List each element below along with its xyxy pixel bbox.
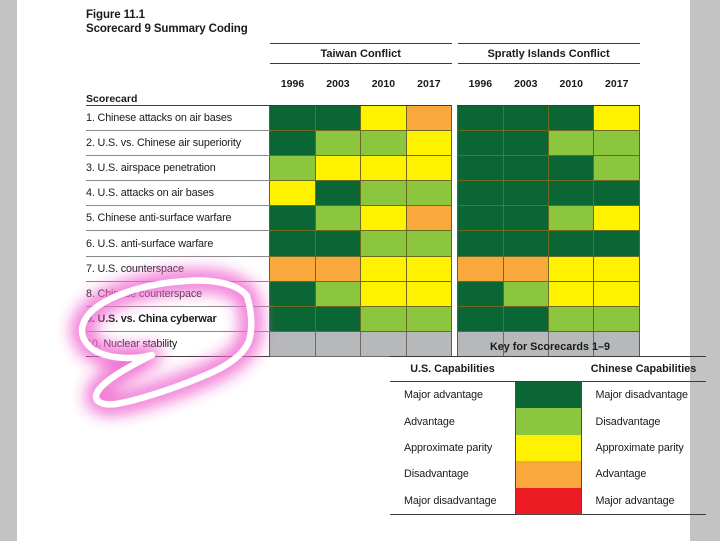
heatmap-cell-taiwan	[406, 307, 451, 332]
legend-header-us: U.S. Capabilities	[390, 357, 515, 382]
heatmap-cell-spratly	[594, 206, 640, 231]
heatmap-cell-taiwan	[361, 181, 406, 206]
legend-header-swatch	[515, 357, 581, 382]
heatmap-cell-spratly	[594, 130, 640, 155]
legend-cn-label: Major disadvantage	[581, 382, 706, 409]
figure-number: Figure 11.1	[86, 8, 640, 22]
year-header-row: Scorecard 1996 2003 2010 2017 1996 2003 …	[86, 64, 640, 106]
legend-us-label: Major advantage	[390, 382, 515, 409]
year-header-taiwan-2017: 2017	[406, 64, 451, 106]
year-header-taiwan-1996: 1996	[270, 64, 315, 106]
heatmap-cell-taiwan	[270, 130, 315, 155]
heatmap-cell-taiwan	[270, 332, 315, 357]
heatmap-cell-spratly	[458, 105, 503, 130]
scorecard-row-label: 3. U.S. airspace penetration	[86, 155, 270, 180]
heatmap-cell-spratly	[549, 256, 594, 281]
heatmap-cell-taiwan	[361, 281, 406, 306]
heatmap-cell-spratly	[458, 256, 503, 281]
heatmap-cell-taiwan	[315, 130, 360, 155]
legend-color-swatch	[515, 382, 581, 409]
legend-row: Major advantageMajor disadvantage	[390, 382, 706, 409]
heatmap-cell-spratly	[549, 206, 594, 231]
legend-container: Key for Scorecards 1–9 U.S. Capabilities…	[390, 341, 710, 515]
table-row: 5. Chinese anti-surface warfare	[86, 206, 640, 231]
legend-us-label: Approximate parity	[390, 435, 515, 461]
heatmap-cell-spratly	[594, 307, 640, 332]
heatmap-cell-spratly	[503, 231, 548, 256]
heatmap-cell-taiwan	[361, 307, 406, 332]
scorecard-row-label: 6. U.S. anti-surface warfare	[86, 231, 270, 256]
table-row: 9. U.S. vs. China cyberwar	[86, 307, 640, 332]
heatmap-cell-spratly	[549, 105, 594, 130]
group-header-spacer	[86, 44, 270, 64]
year-header-taiwan-2010: 2010	[361, 64, 406, 106]
heatmap-cell-spratly	[594, 181, 640, 206]
group-header-spratly: Spratly Islands Conflict	[458, 44, 640, 64]
legend-cn-label: Advantage	[581, 461, 706, 487]
table-row: 8. Chinese counterspace	[86, 281, 640, 306]
legend-table: U.S. Capabilities Chinese Capabilities M…	[390, 356, 706, 515]
heatmap-cell-spratly	[549, 181, 594, 206]
heatmap-cell-spratly	[503, 206, 548, 231]
heatmap-cell-taiwan	[270, 155, 315, 180]
heatmap-cell-taiwan	[315, 307, 360, 332]
figure-title: Scorecard 9 Summary Coding	[86, 22, 640, 36]
legend-table-body: Major advantageMajor disadvantageAdvanta…	[390, 382, 706, 515]
heatmap-cell-taiwan	[406, 231, 451, 256]
table-row: 3. U.S. airspace penetration	[86, 155, 640, 180]
heatmap-cell-taiwan	[270, 181, 315, 206]
heatmap-cell-taiwan	[315, 281, 360, 306]
legend-us-label: Disadvantage	[390, 461, 515, 487]
heatmap-cell-taiwan	[406, 206, 451, 231]
table-row: 1. Chinese attacks on air bases	[86, 105, 640, 130]
heatmap-cell-taiwan	[406, 155, 451, 180]
year-header-spratly-2010: 2010	[549, 64, 594, 106]
heatmap-cell-taiwan	[406, 105, 451, 130]
legend-row: Approximate parityApproximate parity	[390, 435, 706, 461]
heatmap-cell-spratly	[503, 181, 548, 206]
heatmap-cell-taiwan	[270, 206, 315, 231]
figure-container: Figure 11.1 Scorecard 9 Summary Coding T…	[86, 8, 640, 357]
legend-row: AdvantageDisadvantage	[390, 408, 706, 434]
heatmap-cell-spratly	[594, 231, 640, 256]
year-header-spratly-2017: 2017	[594, 64, 640, 106]
legend-cn-label: Disadvantage	[581, 408, 706, 434]
legend-row: DisadvantageAdvantage	[390, 461, 706, 487]
legend-us-label: Major disadvantage	[390, 488, 515, 515]
year-header-spratly-2003: 2003	[503, 64, 548, 106]
scorecard-row-label: 1. Chinese attacks on air bases	[86, 105, 270, 130]
heatmap-cell-taiwan	[315, 105, 360, 130]
heatmap-cell-spratly	[549, 281, 594, 306]
table-row: 6. U.S. anti-surface warfare	[86, 231, 640, 256]
heatmap-cell-taiwan	[270, 256, 315, 281]
group-header-taiwan: Taiwan Conflict	[270, 44, 452, 64]
document-page: Figure 11.1 Scorecard 9 Summary Coding T…	[17, 0, 690, 541]
heatmap-cell-spratly	[458, 206, 503, 231]
scorecard-row-label: 5. Chinese anti-surface warfare	[86, 206, 270, 231]
scorecard-row-label: 7. U.S. counterspace	[86, 256, 270, 281]
heatmap-cell-taiwan	[361, 105, 406, 130]
heatmap-cell-spratly	[549, 130, 594, 155]
legend-header-row: U.S. Capabilities Chinese Capabilities	[390, 357, 706, 382]
legend-header-cn: Chinese Capabilities	[581, 357, 706, 382]
year-header-spratly-1996: 1996	[458, 64, 503, 106]
heatmap-cell-taiwan	[315, 332, 360, 357]
scorecard-row-label: 10. Nuclear stability	[86, 332, 270, 357]
scorecard-row-label: 9. U.S. vs. China cyberwar	[86, 307, 270, 332]
heatmap-cell-taiwan	[406, 256, 451, 281]
heatmap-cell-spratly	[458, 130, 503, 155]
heatmap-cell-taiwan	[361, 256, 406, 281]
table-row: 7. U.S. counterspace	[86, 256, 640, 281]
heatmap-cell-spratly	[458, 181, 503, 206]
heatmap-cell-taiwan	[406, 130, 451, 155]
heatmap-cell-spratly	[503, 105, 548, 130]
legend-color-swatch	[515, 408, 581, 434]
heatmap-cell-taiwan	[361, 130, 406, 155]
year-header-taiwan-2003: 2003	[315, 64, 360, 106]
legend-color-swatch	[515, 488, 581, 515]
legend-us-label: Advantage	[390, 408, 515, 434]
heatmap-cell-taiwan	[315, 206, 360, 231]
heatmap-cell-taiwan	[270, 105, 315, 130]
heatmap-cell-spratly	[549, 307, 594, 332]
heatmap-cell-taiwan	[406, 181, 451, 206]
heatmap-cell-taiwan	[315, 231, 360, 256]
heatmap-cell-spratly	[458, 231, 503, 256]
heatmap-cell-taiwan	[270, 281, 315, 306]
legend-title: Key for Scorecards 1–9	[390, 341, 710, 356]
heatmap-cell-spratly	[458, 155, 503, 180]
heatmap-cell-taiwan	[270, 231, 315, 256]
legend-row: Major disadvantageMajor advantage	[390, 488, 706, 515]
table-row: 2. U.S. vs. Chinese air superiority	[86, 130, 640, 155]
heatmap-cell-spratly	[549, 155, 594, 180]
legend-cn-label: Major advantage	[581, 488, 706, 515]
group-header-row: Taiwan Conflict Spratly Islands Conflict	[86, 44, 640, 64]
heatmap-cell-spratly	[594, 105, 640, 130]
heatmap-cell-spratly	[594, 155, 640, 180]
scorecard-column-header: Scorecard	[86, 64, 270, 106]
heatmap-cell-taiwan	[315, 155, 360, 180]
heatmap-cell-spratly	[503, 130, 548, 155]
heatmap-cell-taiwan	[315, 181, 360, 206]
heatmap-cell-spratly	[458, 307, 503, 332]
heatmap-cell-spratly	[503, 281, 548, 306]
scorecard-row-label: 8. Chinese counterspace	[86, 281, 270, 306]
heatmap-cell-spratly	[503, 256, 548, 281]
heatmap-cell-taiwan	[361, 155, 406, 180]
legend-color-swatch	[515, 435, 581, 461]
heatmap-cell-taiwan	[361, 231, 406, 256]
heatmap-cell-spratly	[549, 231, 594, 256]
scorecard-table: Taiwan Conflict Spratly Islands Conflict…	[86, 43, 640, 357]
heatmap-cell-taiwan	[406, 281, 451, 306]
legend-cn-label: Approximate parity	[581, 435, 706, 461]
heatmap-cell-taiwan	[361, 206, 406, 231]
legend-color-swatch	[515, 461, 581, 487]
heatmap-cell-spratly	[503, 155, 548, 180]
heatmap-cell-taiwan	[315, 256, 360, 281]
heatmap-cell-spratly	[503, 307, 548, 332]
scorecard-row-label: 4. U.S. attacks on air bases	[86, 181, 270, 206]
scorecard-table-head: Taiwan Conflict Spratly Islands Conflict…	[86, 44, 640, 106]
table-row: 4. U.S. attacks on air bases	[86, 181, 640, 206]
scorecard-row-label: 2. U.S. vs. Chinese air superiority	[86, 130, 270, 155]
figure-caption: Figure 11.1 Scorecard 9 Summary Coding	[86, 8, 640, 36]
heatmap-cell-spratly	[458, 281, 503, 306]
heatmap-cell-spratly	[594, 256, 640, 281]
heatmap-cell-taiwan	[270, 307, 315, 332]
scorecard-table-body: 1. Chinese attacks on air bases2. U.S. v…	[86, 105, 640, 357]
heatmap-cell-spratly	[594, 281, 640, 306]
legend-table-head: U.S. Capabilities Chinese Capabilities	[390, 357, 706, 382]
